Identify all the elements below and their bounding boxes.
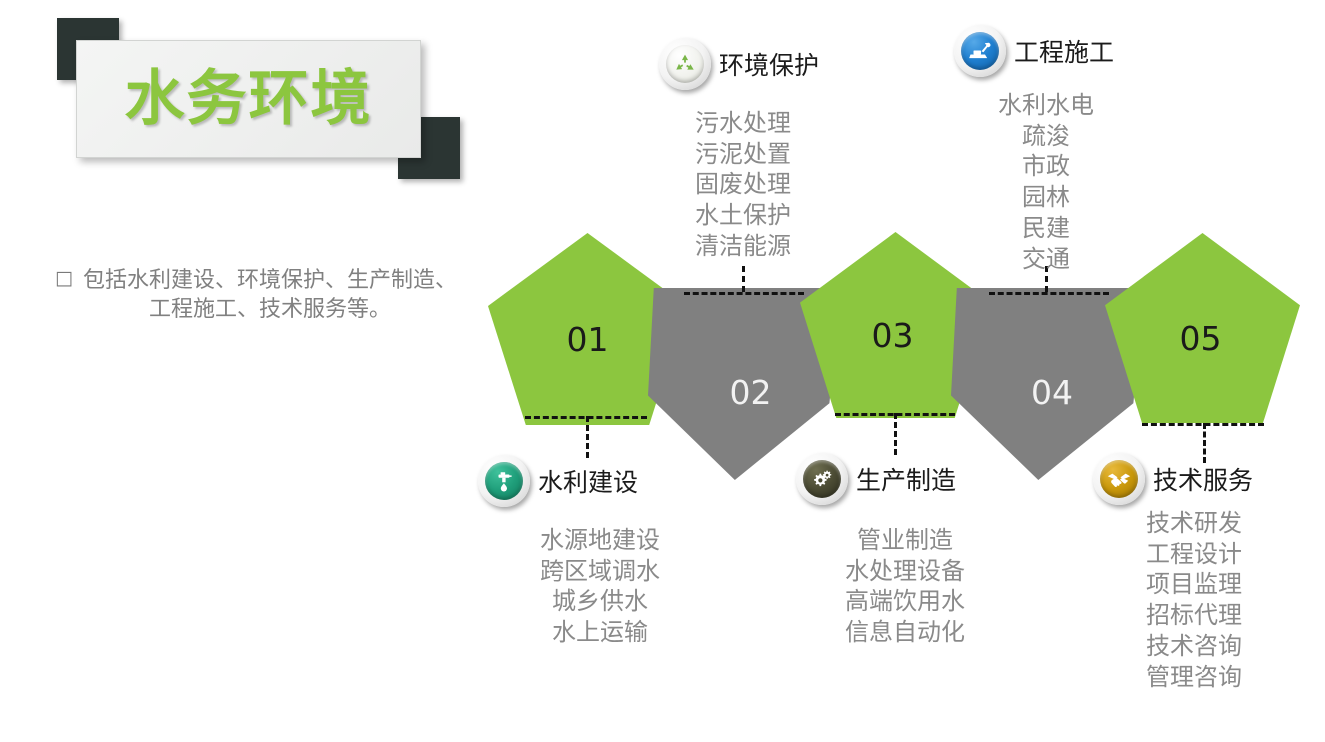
description-block: □ 包括水利建设、环境保护、生产制造、工程施工、技术服务等。 bbox=[55, 266, 465, 324]
list-item: 管业制造 bbox=[826, 525, 984, 556]
badge-05[interactable] bbox=[1093, 453, 1145, 505]
list-item: 技术咨询 bbox=[1146, 631, 1304, 662]
handshake-icon bbox=[1100, 460, 1138, 498]
slide-canvas: 水务环境 □ 包括水利建设、环境保护、生产制造、工程施工、技术服务等。 01 0… bbox=[0, 0, 1325, 742]
step-number-05: 05 bbox=[1180, 322, 1222, 355]
step-number-04: 04 bbox=[1031, 376, 1073, 409]
list-item: 招标代理 bbox=[1146, 600, 1304, 631]
list-item: 高端饮用水 bbox=[826, 586, 984, 617]
list-item: 项目监理 bbox=[1146, 569, 1304, 600]
badge-02[interactable] bbox=[659, 38, 711, 90]
step-label-03: 生产制造 bbox=[856, 461, 956, 497]
list-item: 污泥处置 bbox=[667, 139, 819, 170]
list-item: 跨区域调水 bbox=[521, 556, 679, 587]
list-item: 交通 bbox=[970, 244, 1122, 275]
list-item: 清洁能源 bbox=[667, 231, 819, 262]
list-item: 工程设计 bbox=[1146, 539, 1304, 570]
step-header-04[interactable]: 工程施工 bbox=[954, 25, 1114, 77]
badge-01[interactable] bbox=[478, 455, 530, 507]
list-item: 园林 bbox=[970, 182, 1122, 213]
step-items-04: 水利水电 疏浚 市政 园林 民建 交通 bbox=[970, 90, 1122, 274]
step-items-02: 污水处理 污泥处置 固废处理 水土保护 清洁能源 bbox=[667, 108, 819, 262]
list-item: 水利水电 bbox=[970, 90, 1122, 121]
list-item: 城乡供水 bbox=[521, 586, 679, 617]
step-header-05[interactable]: 技术服务 bbox=[1093, 453, 1253, 505]
list-item: 水处理设备 bbox=[826, 556, 984, 587]
connector-vertical-03 bbox=[894, 413, 897, 455]
step-number-03: 03 bbox=[872, 319, 914, 352]
step-items-05: 技术研发 工程设计 项目监理 招标代理 技术咨询 管理咨询 bbox=[1146, 508, 1304, 692]
step-header-02[interactable]: 环境保护 bbox=[659, 38, 819, 90]
list-item: 技术研发 bbox=[1146, 508, 1304, 539]
list-item: 管理咨询 bbox=[1146, 662, 1304, 693]
step-shape-05[interactable]: 05 bbox=[1105, 233, 1300, 423]
step-number-02: 02 bbox=[730, 376, 772, 409]
connector-horizontal-04 bbox=[989, 292, 1109, 295]
bullet-square-icon: □ bbox=[55, 266, 73, 292]
step-items-03: 管业制造 水处理设备 高端饮用水 信息自动化 bbox=[826, 525, 984, 648]
badge-03[interactable] bbox=[796, 453, 848, 505]
connector-vertical-01 bbox=[586, 416, 589, 458]
step-label-02: 环境保护 bbox=[719, 46, 819, 82]
step-number-01: 01 bbox=[567, 323, 609, 356]
list-item: 水上运输 bbox=[521, 617, 679, 648]
step-header-01[interactable]: 水利建设 bbox=[478, 455, 638, 507]
faucet-icon bbox=[485, 462, 523, 500]
excavator-icon bbox=[961, 32, 999, 70]
list-item: 水土保护 bbox=[667, 200, 819, 231]
connector-horizontal-02 bbox=[684, 292, 804, 295]
step-items-01: 水源地建设 跨区域调水 城乡供水 水上运输 bbox=[521, 525, 679, 648]
description-text: 包括水利建设、环境保护、生产制造、工程施工、技术服务等。 bbox=[75, 266, 465, 324]
connector-vertical-02 bbox=[742, 266, 745, 292]
step-label-04: 工程施工 bbox=[1014, 33, 1114, 69]
title-card: 水务环境 bbox=[76, 40, 421, 158]
recycle-icon bbox=[666, 45, 704, 83]
gear-icon bbox=[803, 460, 841, 498]
list-item: 污水处理 bbox=[667, 108, 819, 139]
list-item: 民建 bbox=[970, 213, 1122, 244]
step-header-03[interactable]: 生产制造 bbox=[796, 453, 956, 505]
page-title: 水务环境 bbox=[125, 69, 373, 129]
list-item: 市政 bbox=[970, 151, 1122, 182]
list-item: 水源地建设 bbox=[521, 525, 679, 556]
step-label-05: 技术服务 bbox=[1153, 461, 1253, 497]
badge-04[interactable] bbox=[954, 25, 1006, 77]
step-label-01: 水利建设 bbox=[538, 463, 638, 499]
list-item: 固废处理 bbox=[667, 169, 819, 200]
list-item: 信息自动化 bbox=[826, 617, 984, 648]
list-item: 疏浚 bbox=[970, 121, 1122, 152]
